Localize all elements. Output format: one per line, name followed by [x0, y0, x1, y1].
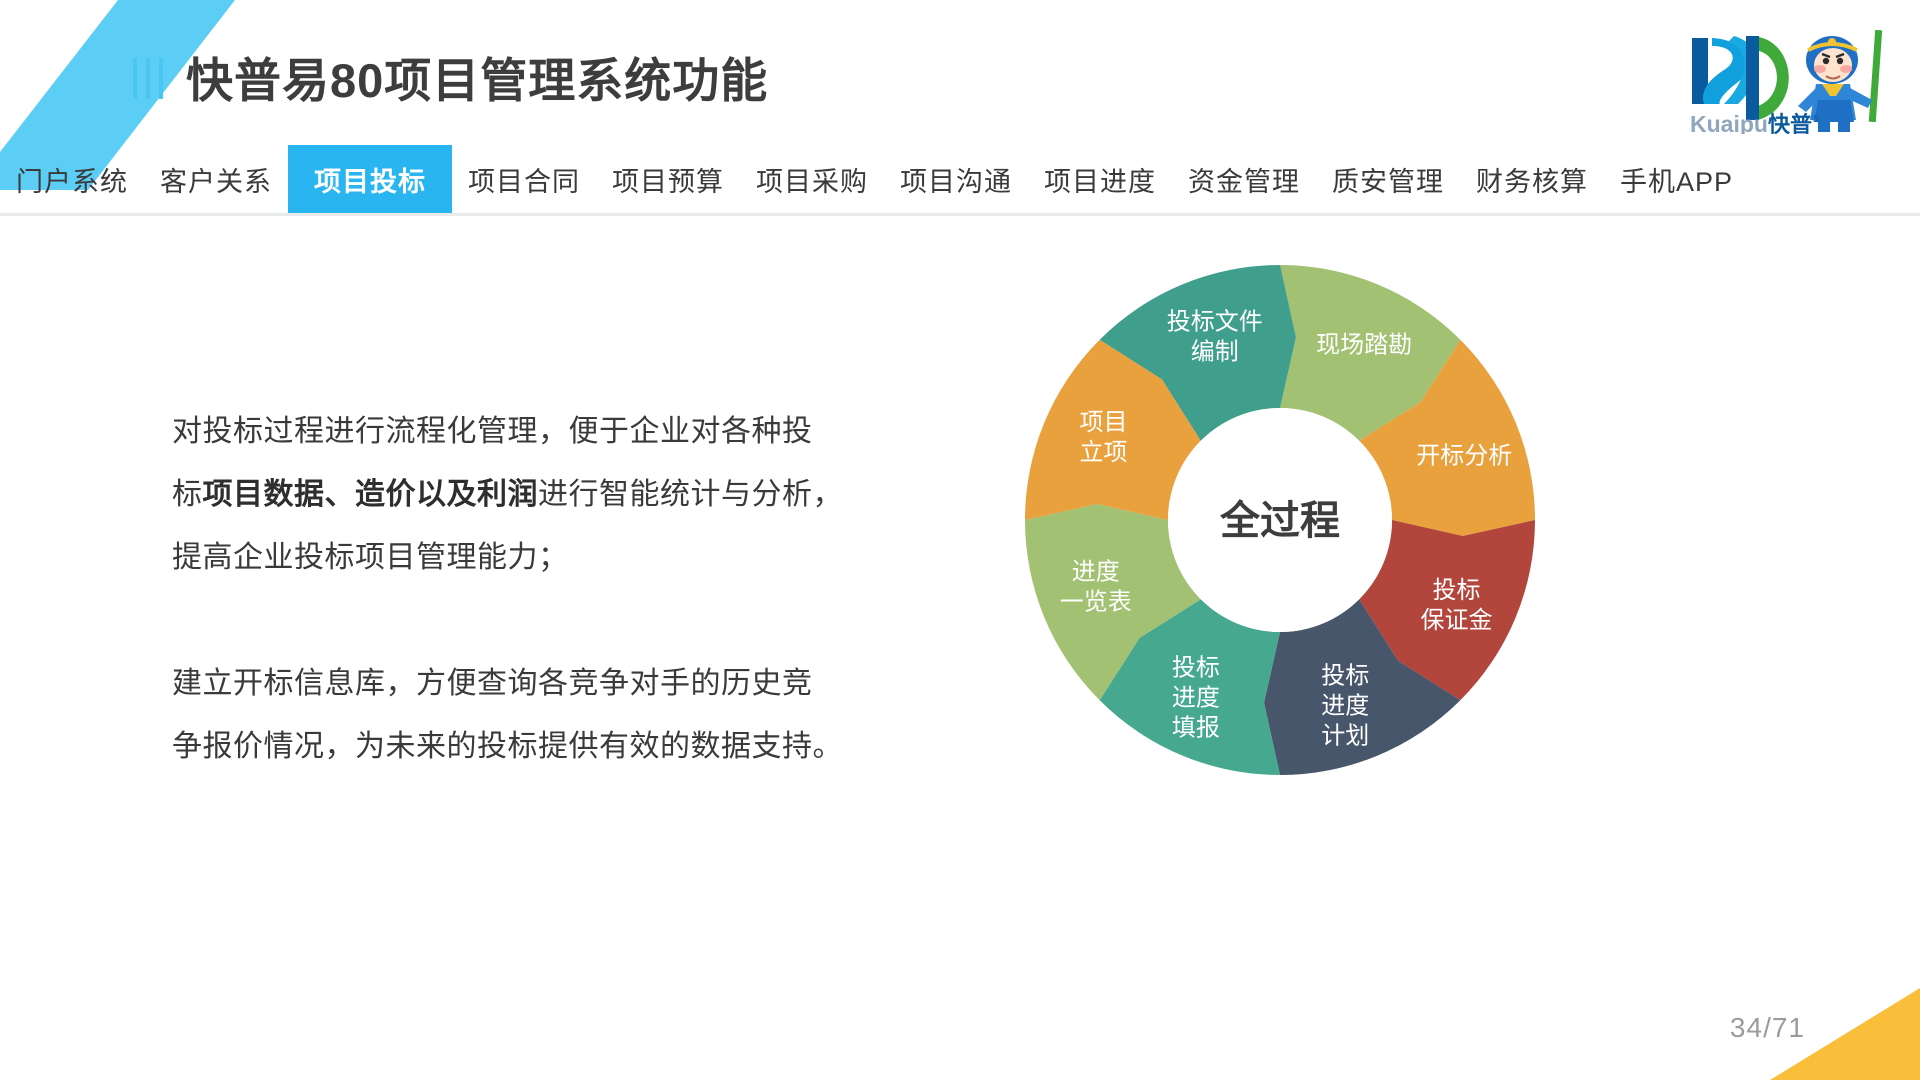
nav-item-1[interactable]: 客户关系: [144, 145, 288, 213]
paragraph2-line1: 建立开标信息库，方便查询各竞争对手的历史竞: [172, 652, 932, 715]
paragraph1-line2: 标项目数据、造价以及利润进行智能统计与分析，: [172, 463, 932, 526]
cycle-center-label: 全过程: [1219, 498, 1340, 543]
slide-header: 快普易80项目管理系统功能: [0, 0, 1920, 145]
paragraph1-line3: 提高企业投标项目管理能力；: [172, 526, 932, 589]
nav-item-5[interactable]: 项目采购: [740, 145, 884, 213]
kuaipu-logo: Kuaipu 快普 ®: [1672, 22, 1902, 134]
description-text: 对投标过程进行流程化管理，便于企业对各种投 标项目数据、造价以及利润进行智能统计…: [172, 400, 932, 778]
cycle-segment-label: 开标分析: [1416, 443, 1512, 470]
nav-item-2[interactable]: 项目投标: [288, 145, 452, 213]
page-number: 34/71: [1730, 1012, 1805, 1044]
title-accent-bars-icon: [133, 58, 163, 99]
p1l2-emphasis: 项目数据、造价以及利润: [203, 478, 539, 511]
svg-text:®: ®: [1812, 114, 1820, 125]
process-cycle-chart: 现场踏勘开标分析投标保证金投标进度计划投标进度填报进度一览表项目立项投标文件编制…: [1018, 258, 1542, 782]
nav-item-11[interactable]: 手机APP: [1604, 145, 1749, 213]
svg-text:Kuaipu: Kuaipu: [1690, 111, 1768, 134]
cycle-segment-label: 现场踏勘: [1316, 332, 1412, 359]
nav-item-10[interactable]: 财务核算: [1460, 145, 1604, 213]
p1l2-pre: 标: [172, 478, 203, 511]
paragraph2-line2: 争报价情况，为未来的投标提供有效的数据支持。: [172, 715, 932, 778]
nav-item-9[interactable]: 质安管理: [1316, 145, 1460, 213]
nav-item-0[interactable]: 门户系统: [0, 145, 144, 213]
nav-item-6[interactable]: 项目沟通: [884, 145, 1028, 213]
p1l2-post: 进行智能统计与分析，: [538, 478, 843, 511]
nav-item-4[interactable]: 项目预算: [596, 145, 740, 213]
svg-text:快普: 快普: [1768, 112, 1812, 134]
nav-item-8[interactable]: 资金管理: [1172, 145, 1316, 213]
paragraph-spacer: [172, 589, 932, 652]
cycle-segment-label: 投标进度计划: [1321, 662, 1369, 749]
cycle-segment-label: 投标进度填报: [1172, 654, 1220, 741]
page-title: 快普易80项目管理系统功能: [186, 42, 768, 111]
nav-item-3[interactable]: 项目合同: [452, 145, 596, 213]
nav-item-7[interactable]: 项目进度: [1028, 145, 1172, 213]
paragraph1-line1: 对投标过程进行流程化管理，便于企业对各种投: [172, 400, 932, 463]
nav-divider: [0, 213, 1920, 216]
module-nav[interactable]: 门户系统 客户关系 项目投标 项目合同 项目预算 项目采购 项目沟通 项目进度 …: [0, 145, 1920, 213]
